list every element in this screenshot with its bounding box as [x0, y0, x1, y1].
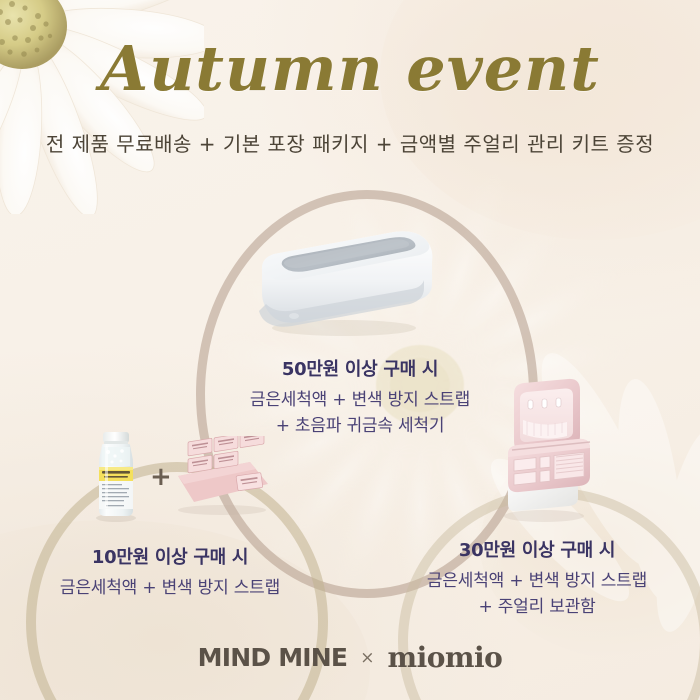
page-title: Autumn event [0, 38, 700, 100]
tier-30-caption: 30만원 이상 구매 시 금은세척액 + 변색 방지 스트랩 + 주얼리 보관함 [372, 536, 700, 620]
tier-30-condition: 30만원 이상 구매 시 [372, 536, 700, 562]
promo-poster: Autumn event 전 제품 무료배송 + 기본 포장 패키지 + 금액별… [0, 0, 700, 700]
brand-lockup: MIND MINE × miomio [0, 641, 700, 674]
tier-10-condition: 10만원 이상 구매 시 [0, 543, 340, 569]
anti-tarnish-strap-cards-image [166, 436, 274, 516]
tier-50-gift-line-1: 금은세척액 + 변색 방지 스트랩 [150, 388, 570, 414]
tier-50-condition: 50만원 이상 구매 시 [150, 355, 570, 381]
brand-mind-mine: MIND MINE [198, 643, 348, 672]
ultrasonic-cleaner-image [248, 224, 438, 336]
tier-30-gift-line-2: + 주얼리 보관함 [372, 595, 700, 621]
plus-separator: + [150, 462, 172, 492]
brand-miomio: miomio [387, 641, 502, 674]
tier-30-gift-line-1: 금은세척액 + 변색 방지 스트랩 [372, 569, 700, 595]
tier-10-gift-line-1: 금은세척액 + 변색 방지 스트랩 [0, 576, 340, 602]
brand-cross-icon: × [360, 648, 374, 668]
tier-10-caption: 10만원 이상 구매 시 금은세척액 + 변색 방지 스트랩 [0, 543, 340, 602]
cleaning-solution-bottle-image [88, 430, 144, 522]
page-subtitle: 전 제품 무료배송 + 기본 포장 패키지 + 금액별 주얼리 관리 키트 증정 [0, 128, 700, 157]
tier-50-gift-line-2: + 초음파 귀금속 세척기 [150, 414, 570, 440]
tier-50-caption: 50만원 이상 구매 시 금은세척액 + 변색 방지 스트랩 + 초음파 귀금속… [150, 355, 570, 439]
